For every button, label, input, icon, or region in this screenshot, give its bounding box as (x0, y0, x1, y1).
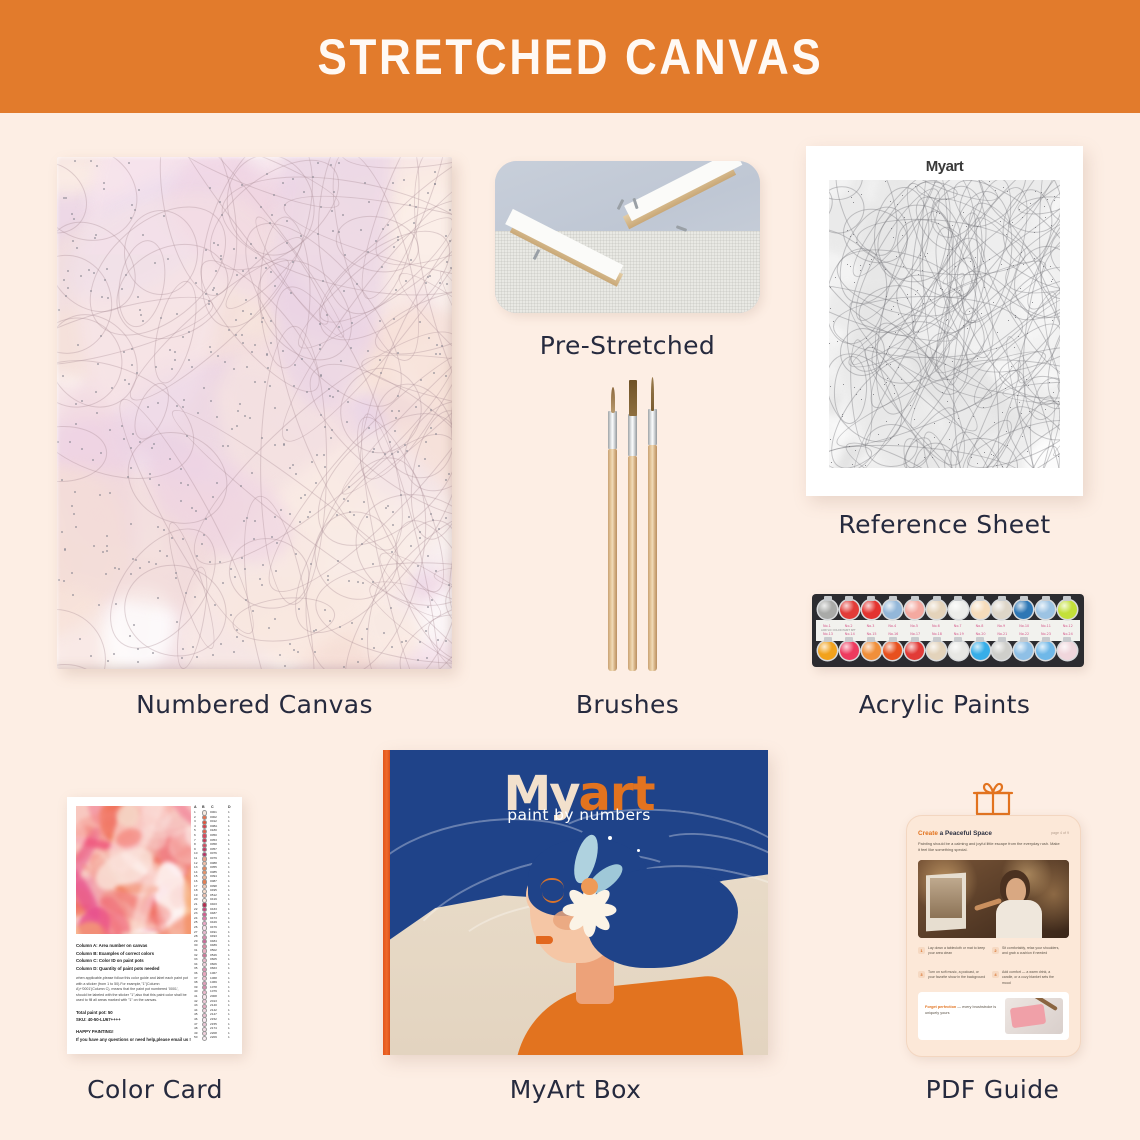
color-card-row: 2804931 (194, 934, 236, 938)
color-card-row: 100011 (194, 810, 236, 814)
color-card-row: 3105021 (194, 948, 236, 952)
color-card-row: 1700981 (194, 884, 236, 888)
pdf-heading-rest: a Peaceful Space (938, 830, 992, 837)
color-card-row: 4321401 (194, 1003, 236, 1007)
pdf-guide-card: Create a Peaceful Space page 4 of 9 Pain… (906, 815, 1081, 1057)
color-card-row: 2304871 (194, 911, 236, 915)
pdf-guide-photo (918, 860, 1069, 938)
infographic-page: STRETCHED CANVAS Numbered Canvas Pre-Str… (0, 0, 1140, 1140)
color-card-row: 1500941 (194, 874, 236, 878)
color-card-row: 4922081 (194, 1031, 236, 1035)
reference-sheet-logo: Myart (806, 158, 1083, 175)
color-card-row: 3810691 (194, 980, 236, 984)
color-card-row: 3710681 (194, 976, 236, 980)
color-card-row: 3306051 (194, 957, 236, 961)
page-title: STRETCHED CANVAS (317, 28, 823, 86)
pre-stretched-photo (495, 161, 760, 313)
color-card-row: 3610671 (194, 971, 236, 975)
numbered-canvas-image (57, 157, 452, 669)
pdf-guide-intro: Painting should be a calming and joyful … (918, 841, 1061, 853)
color-card-row: 3205261 (194, 953, 236, 957)
color-card-row: 1600871 (194, 879, 236, 883)
caption-pre-stretched: Pre-Stretched (470, 331, 785, 360)
color-card-row: 4008A1 (194, 824, 236, 828)
color-card-row: 4010791 (194, 989, 236, 993)
color-card-row: 300121 (194, 819, 236, 823)
acrylic-paints-tray: No.1No.2No.3No.4No.5No.6No.7No.8No.9No.1… (812, 594, 1084, 667)
color-card-row: 2204331 (194, 907, 236, 911)
reference-sheet-image: Myart (806, 146, 1083, 496)
color-card-row: 4821741 (194, 1026, 236, 1030)
myart-box-image: Myart paint by numbers (383, 750, 768, 1055)
color-card-row: 1200881 (194, 861, 236, 865)
caption-acrylic-paints: Acrylic Paints (806, 690, 1083, 719)
pdf-footer-text: Forget perfection — every brushstroke is… (925, 1005, 999, 1016)
color-card-row: 501801 (194, 828, 236, 832)
color-card-row: 4120081 (194, 994, 236, 998)
color-card-heading-b: Column B: Examples of correct colors (76, 951, 154, 956)
color-card-heading-d: Column D: Quantity of paint pots needed (76, 966, 159, 971)
color-card-heading-a: Column A: Area number on canvas (76, 943, 147, 948)
color-card-heading-c: Column C: Color ID on paint pots (76, 958, 144, 963)
reference-sheet-artwork (829, 180, 1060, 468)
paint-label-strip: No.1No.2No.3No.4No.5No.6No.7No.8No.9No.1… (816, 620, 1080, 641)
color-card-contact: If you have any questions or need help,p… (76, 1037, 191, 1042)
color-card-row: 1905121 (194, 893, 236, 897)
color-card-row: 2104031 (194, 902, 236, 906)
color-card-row: 2704911 (194, 930, 236, 934)
color-card-row: 1400851 (194, 870, 236, 874)
pdf-footer-accent: Forget perfection (925, 1005, 956, 1009)
color-card-happy: HAPPY PAINTING! (76, 1029, 114, 1034)
caption-reference-sheet: Reference Sheet (806, 510, 1083, 539)
color-card-row: 2904841 (194, 939, 236, 943)
color-card-row: 4220131 (194, 999, 236, 1003)
pdf-page-label: page 4 of 9 (1051, 831, 1069, 835)
color-card-row: 4521471 (194, 1012, 236, 1016)
pdf-heading-accent: Create (918, 830, 938, 837)
pdf-guide-body: Create a Peaceful Space page 4 of 9 Pain… (918, 830, 1069, 853)
box-front-face: Myart paint by numbers (390, 750, 768, 1055)
canvas-number-dots (57, 157, 452, 669)
color-card-row: 200021 (194, 815, 236, 819)
pdf-footer-photo (1005, 998, 1063, 1034)
caption-color-card: Color Card (20, 1075, 290, 1104)
color-card-row: 2604791 (194, 925, 236, 929)
color-card-row: 5022091 (194, 1035, 236, 1039)
color-card-instructions: when applicable,please follow this color… (76, 976, 188, 1004)
color-card-sku: SKU: 40-50-LU67++++ (76, 1017, 121, 1022)
brushes-image (592, 388, 678, 671)
color-card-row: 700531 (194, 838, 236, 842)
caption-brushes: Brushes (470, 690, 785, 719)
color-card-row: 4721551 (194, 1022, 236, 1026)
color-card-artwork (76, 806, 191, 934)
color-card-row: 1000761 (194, 851, 236, 855)
color-card-row: 3506631 (194, 966, 236, 970)
color-card-row: 2004191 (194, 897, 236, 901)
pdf-guide-heading: Create a Peaceful Space (918, 830, 1069, 837)
color-card-image: Column A: Area number on canvas Column B… (67, 797, 242, 1054)
page-header: STRETCHED CANVAS (0, 0, 1140, 113)
color-card-row: 1300551 (194, 865, 236, 869)
caption-pdf-guide: PDF Guide (880, 1075, 1105, 1104)
box-orange-edge (383, 750, 390, 1055)
color-card-row: 1100791 (194, 856, 236, 860)
pdf-guide-footer: Forget perfection — every brushstroke is… (918, 992, 1069, 1040)
color-card-row: 4621521 (194, 1017, 236, 1021)
color-card-total: Total paint pot: 50 (76, 1010, 113, 1015)
color-card-row: 2504291 (194, 920, 236, 924)
color-card-row: 600501 (194, 833, 236, 837)
color-card-row: 1804951 (194, 888, 236, 892)
color-card-row: 900571 (194, 847, 236, 851)
caption-numbered-canvas: Numbered Canvas (57, 690, 452, 719)
color-card-row: 4421421 (194, 1008, 236, 1012)
box-tagline: paint by numbers (390, 806, 768, 824)
color-card-row: 3910781 (194, 985, 236, 989)
gift-icon (970, 780, 1016, 816)
color-card-row: 2404731 (194, 916, 236, 920)
caption-myart-box: MyArt Box (383, 1075, 768, 1104)
color-card-row: 800581 (194, 842, 236, 846)
color-card-row: 3406061 (194, 962, 236, 966)
color-card-row: 3004891 (194, 943, 236, 947)
pdf-guide-image: Create a Peaceful Space page 4 of 9 Pain… (899, 780, 1086, 1055)
